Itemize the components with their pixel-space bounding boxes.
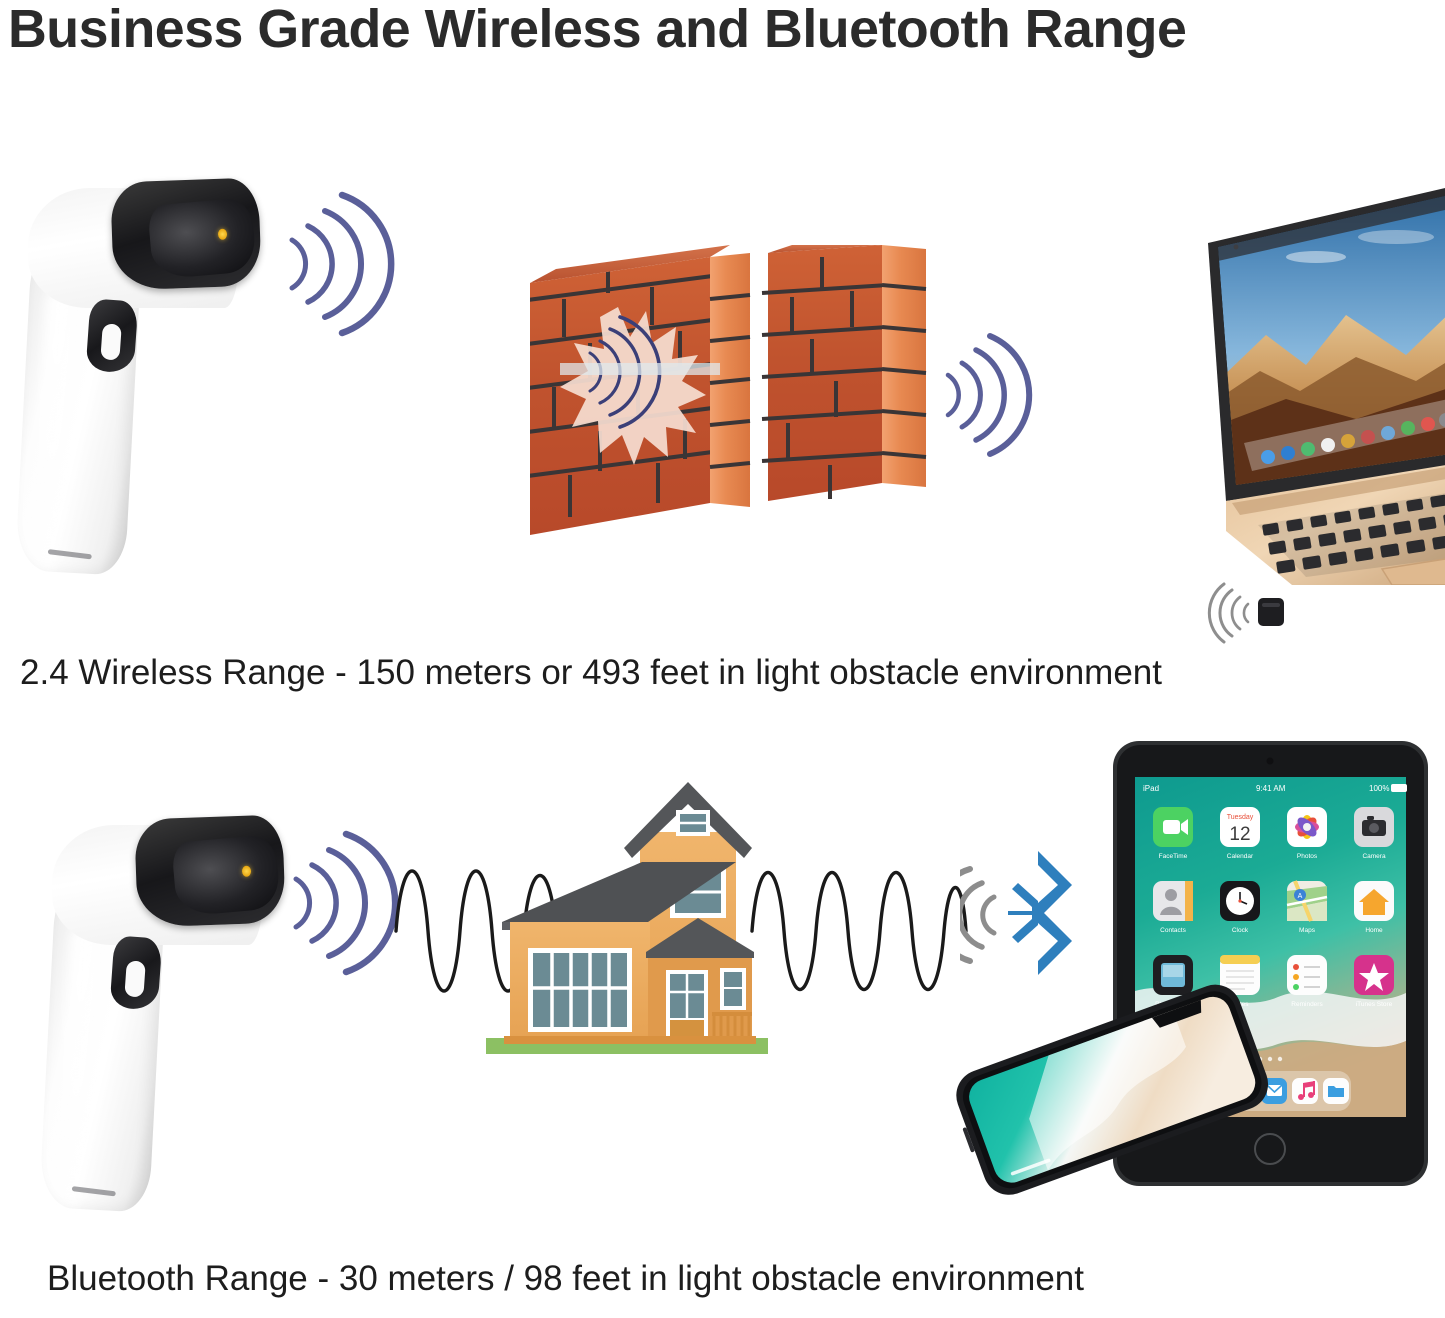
app-label: Contacts [1160,927,1186,934]
ipad-status-carrier: iPad [1143,784,1159,793]
usb-wireless-dongle [1218,582,1296,644]
barcode-scanner [40,815,310,1215]
dock-icon-files [1323,1078,1349,1104]
app-label: Calendar [1227,853,1254,860]
app-icon-itunes-store [1354,955,1394,995]
app-label: Reminders [1291,1001,1323,1008]
bluetooth-range-scene: iPad 9:41 AM 100% FaceTime Tues [0,735,1445,1235]
dock-icon-music [1292,1078,1318,1104]
app-icon-contacts [1153,881,1193,921]
macbook-air-laptop [1196,185,1445,585]
brick-column-left [710,253,750,507]
brick-panel-right [762,245,902,501]
app-label: Camera [1362,853,1386,860]
app-icon-clock [1220,881,1260,921]
app-label: Home [1365,927,1383,934]
app-icon-photos [1287,807,1327,847]
bluetooth-range-caption: Bluetooth Range - 30 meters / 98 feet in… [47,1258,1084,1300]
scanner-window [147,197,257,280]
app-label: FaceTime [1159,853,1188,860]
laptop-display [1208,185,1445,501]
wireless-waves-icon [940,325,1020,465]
brick-column-right [882,245,926,487]
scanner-window [171,834,281,917]
app-label: iTunes Store [1356,1001,1393,1008]
app-label: Maps [1299,927,1316,934]
app-label: Clock [1232,927,1249,934]
ipad-status-time: 9:41 AM [1256,784,1286,793]
sine-waveform [748,831,968,1031]
scanner-head [134,814,286,927]
ipad-status-battery: 100% [1369,784,1389,793]
scanner-highlight [57,928,98,1209]
house-side-window [720,968,746,1010]
app-icon-home [1354,881,1394,921]
wireless-range-caption: 2.4 Wireless Range - 150 meters or 493 f… [20,652,1162,694]
calendar-day-name: Tuesday [1227,814,1254,821]
house-door [666,970,708,1038]
scanner-highlight [33,291,74,572]
app-label: Photos [1297,853,1318,860]
app-icon-camera [1354,807,1394,847]
app-icon-maps: A [1287,881,1327,921]
house [480,770,780,1060]
wireless-range-scene [0,150,1445,630]
app-icon-calendar: Tuesday 12 [1220,807,1260,847]
house-picture-window [528,948,632,1032]
app-icon-reminders [1287,955,1327,995]
app-icon-facetime [1153,807,1193,847]
iphone-x [943,980,1273,1195]
wireless-waves-icon [288,823,378,983]
scanner-head [110,177,262,290]
calendar-day-number: 12 [1229,824,1250,845]
barcode-scanner [16,178,286,578]
page-title: Business Grade Wireless and Bluetooth Ra… [8,0,1431,62]
brick-wall [530,245,950,545]
bluetooth-logo-icon [960,845,1090,985]
wireless-waves-icon [284,184,374,344]
svg-text:A: A [1298,893,1303,900]
